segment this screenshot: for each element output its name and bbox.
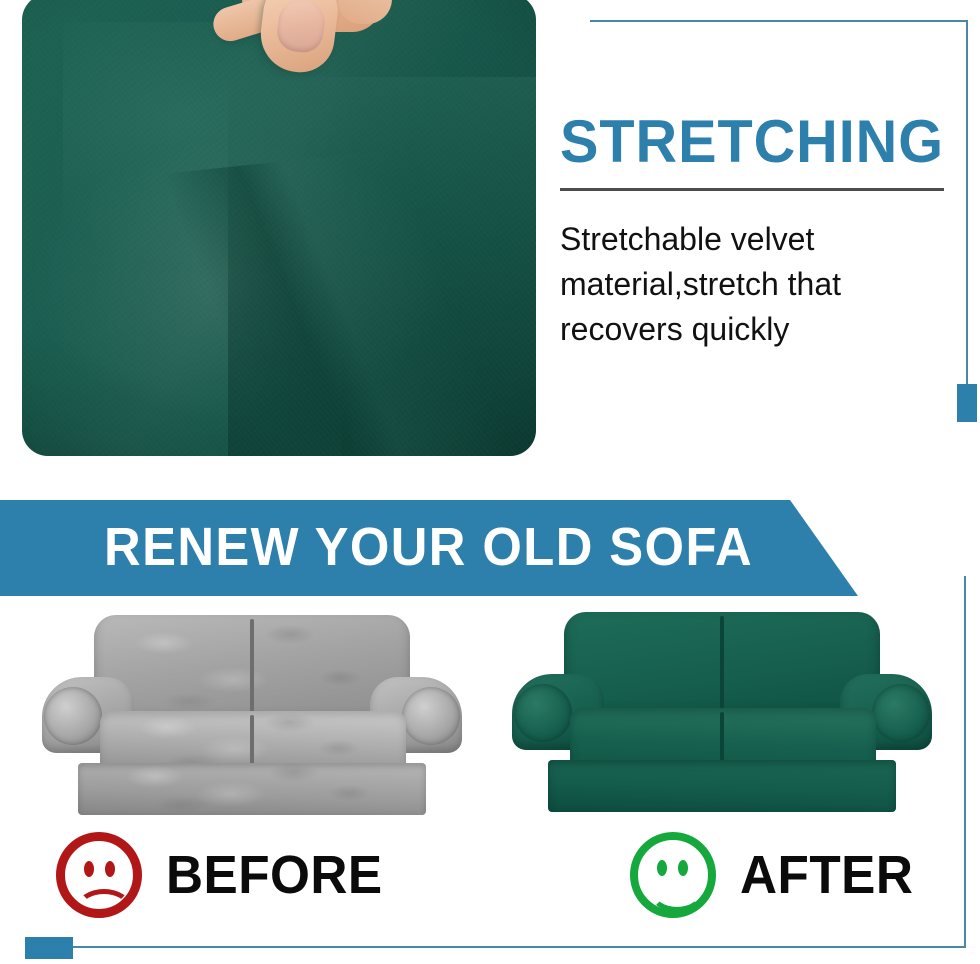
fabric-vignette	[22, 0, 536, 456]
feature-text-column: STRETCHING Stretchable velvet material,s…	[560, 110, 952, 352]
happy-face-mouth	[649, 870, 705, 912]
bottom-frame-accent-block	[25, 937, 73, 959]
bottom-frame-vertical-line	[964, 576, 966, 948]
before-label-row: BEFORE	[56, 832, 394, 918]
feature-divider	[560, 188, 944, 191]
sad-face-mouth	[77, 889, 131, 925]
after-label-row: AFTER	[630, 832, 922, 918]
sofa-back-cushion-seam	[250, 619, 254, 715]
bottom-frame-horizontal-line	[60, 946, 966, 948]
sofa-back-cushion-seam	[720, 616, 724, 712]
green-velvet-sofa-icon	[512, 612, 932, 812]
sad-face-eye-right	[105, 861, 115, 877]
fabric-photo	[22, 0, 536, 456]
sad-face-icon	[56, 832, 142, 918]
before-label: BEFORE	[166, 846, 383, 904]
sofa-arm-scroll-left	[514, 684, 572, 742]
sofa-arm-scroll-left	[44, 687, 102, 745]
headline-banner-text: RENEW YOUR OLD SOFA	[104, 516, 753, 578]
feature-title: STRETCHING	[560, 110, 936, 174]
happy-face-icon	[630, 832, 716, 918]
sofa-arm-scroll-right	[402, 687, 460, 745]
sad-face-eye-left	[84, 861, 94, 877]
gray-worn-sofa-icon	[42, 615, 462, 815]
feature-description: Stretchable velvet material,stretch that…	[560, 217, 952, 352]
sofa-base-wear-texture	[78, 763, 426, 815]
after-label: AFTER	[740, 846, 913, 904]
top-frame-horizontal-line	[590, 20, 968, 22]
product-feature-page: STRETCHING Stretchable velvet material,s…	[0, 0, 980, 964]
sofa-base-skirt	[548, 760, 896, 812]
top-frame-vertical-line	[966, 20, 968, 388]
sofa-arm-scroll-right	[872, 684, 930, 742]
top-frame-accent-block	[957, 384, 977, 422]
sofa-base-skirt	[78, 763, 426, 815]
